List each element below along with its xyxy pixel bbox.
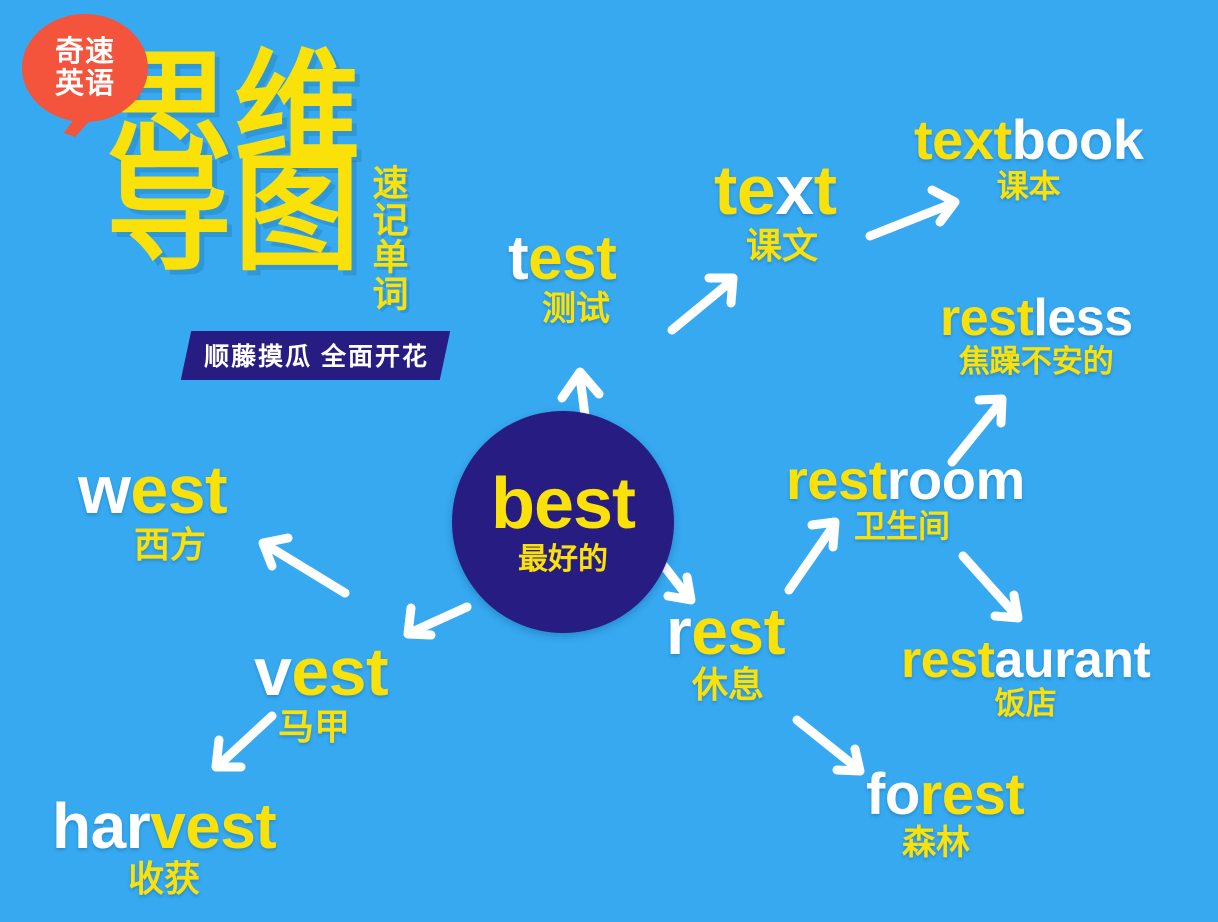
node-west-gloss: 西方	[78, 526, 227, 564]
node-restless[interactable]: restless 焦躁不安的	[940, 292, 1133, 379]
node-forest-gloss: 森林	[866, 826, 1024, 862]
node-restroom-root: rest	[786, 448, 887, 511]
tagline-text: 顺藤摸瓜 全面开花	[204, 337, 429, 373]
node-restaurant-word: restaurant	[901, 634, 1150, 686]
node-textbook-suffix: book	[1012, 108, 1144, 171]
node-restaurant-gloss: 饭店	[901, 688, 1150, 721]
node-west-prefix: w	[78, 452, 130, 528]
badge-line-1: 奇速	[55, 36, 115, 68]
node-vest-word: vest	[254, 638, 388, 706]
node-west-root: est	[130, 452, 227, 528]
tagline-banner: 顺藤摸瓜 全面开花	[181, 331, 450, 380]
node-rest-prefix: r	[666, 594, 691, 668]
node-rest-gloss: 休息	[666, 666, 785, 704]
node-test-word: test	[508, 228, 616, 290]
arrow-rest-to-forest	[797, 720, 860, 771]
node-restless-gloss: 焦躁不安的	[940, 346, 1133, 379]
node-best[interactable]: best 最好的	[452, 411, 674, 633]
node-restroom-suffix: room	[887, 448, 1025, 511]
node-rest-word: rest	[666, 598, 785, 664]
node-best-word: best	[491, 468, 635, 540]
node-text-suffix: t	[814, 151, 837, 229]
title-line-2: 导图	[106, 156, 362, 274]
node-harvest-gloss: 收获	[52, 860, 276, 898]
node-restaurant-suffix: aurant	[994, 631, 1150, 689]
node-vest-prefix: v	[254, 634, 291, 710]
node-restless-word: restless	[940, 292, 1133, 344]
node-harvest[interactable]: harvest 收获	[52, 794, 276, 898]
node-rest-root: est	[691, 594, 785, 668]
node-textbook-gloss: 课本	[914, 170, 1143, 204]
node-harvest-word: harvest	[52, 794, 276, 858]
node-restless-suffix: less	[1033, 289, 1132, 347]
node-text-word: text	[714, 155, 837, 225]
node-restless-root: rest	[940, 289, 1033, 347]
node-harvest-prefix: har	[52, 790, 150, 862]
node-best-gloss: 最好的	[518, 544, 608, 576]
node-forest-prefix: fo	[866, 762, 920, 827]
node-west[interactable]: west 西方	[78, 456, 227, 564]
node-restroom-gloss: 卫生间	[786, 510, 1025, 544]
brand-badge: 奇速 英语	[22, 14, 148, 122]
node-forest-root: rest	[920, 762, 1024, 827]
arrow-restroom-to-restaurant	[963, 556, 1018, 618]
brand-logo: 奇速 英语 思维 导图 速记单词 顺藤摸瓜 全面开花	[0, 0, 470, 390]
node-text-root: x	[775, 151, 813, 229]
badge-line-2: 英语	[55, 68, 115, 100]
node-test-root: est	[528, 224, 616, 293]
node-restaurant-root: rest	[901, 631, 994, 689]
node-restaurant[interactable]: restaurant 饭店	[901, 634, 1150, 721]
node-vest-root: est	[291, 634, 388, 710]
node-vest[interactable]: vest 马甲	[254, 638, 388, 746]
node-test[interactable]: test 测试	[508, 228, 616, 328]
node-restroom-word: restroom	[786, 452, 1025, 508]
node-rest[interactable]: rest 休息	[666, 598, 785, 704]
node-text-prefix: te	[714, 151, 775, 229]
node-restroom[interactable]: restroom 卫生间	[786, 452, 1025, 544]
arrow-best-to-vest	[408, 607, 467, 635]
node-textbook[interactable]: textbook 课本	[914, 112, 1143, 204]
node-text[interactable]: text 课文	[714, 155, 837, 265]
node-forest[interactable]: forest 森林	[866, 766, 1024, 862]
arrow-test-to-text	[672, 278, 733, 330]
node-forest-word: forest	[866, 766, 1024, 824]
node-test-gloss: 测试	[508, 292, 616, 328]
node-harvest-root: vest	[150, 790, 276, 862]
node-west-word: west	[78, 456, 227, 524]
node-test-prefix: t	[508, 224, 528, 293]
node-textbook-word: textbook	[914, 112, 1143, 168]
node-textbook-root: text	[914, 108, 1012, 171]
node-best-root: best	[491, 464, 635, 544]
arrow-best-to-west	[263, 538, 345, 593]
node-vest-gloss: 马甲	[254, 708, 388, 746]
subtitle-vertical: 速记单词	[366, 164, 408, 312]
node-text-gloss: 课文	[714, 227, 837, 265]
mindmap-canvas: .ar{stroke:#FFFFFF;stroke-width:9;stroke…	[0, 0, 1218, 922]
